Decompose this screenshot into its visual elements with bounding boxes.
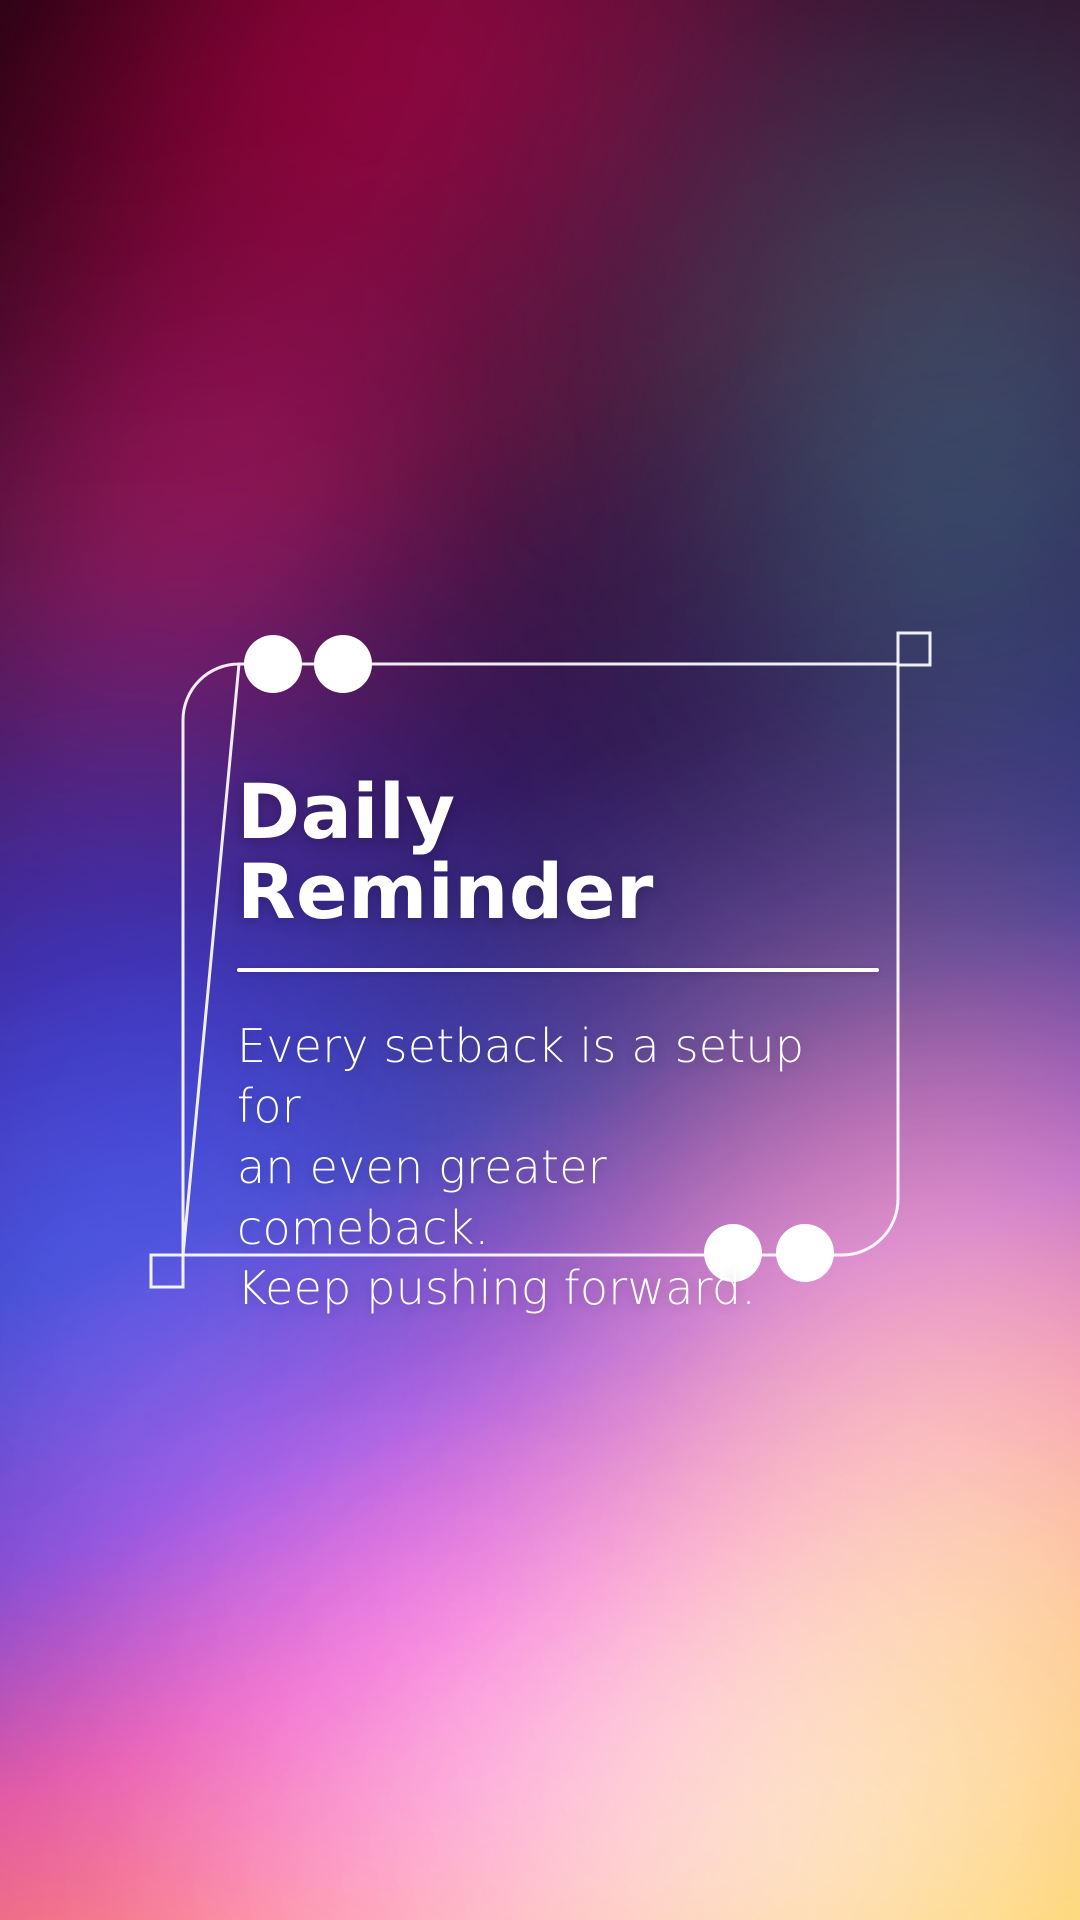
quote-line-1: Every setback is a setup for	[237, 1016, 867, 1137]
title-divider	[237, 968, 879, 972]
quote-text: Every setback is a setup for an even gre…	[237, 1016, 867, 1320]
card-content: Daily Reminder Every setback is a setup …	[237, 772, 867, 1319]
quote-line-2: an even greater comeback.	[237, 1137, 867, 1258]
quote-line-3: Keep pushing forward.	[237, 1258, 867, 1319]
page-title: Daily Reminder	[237, 772, 867, 932]
story-card-canvas: Daily Reminder Every setback is a setup …	[0, 0, 1080, 1920]
